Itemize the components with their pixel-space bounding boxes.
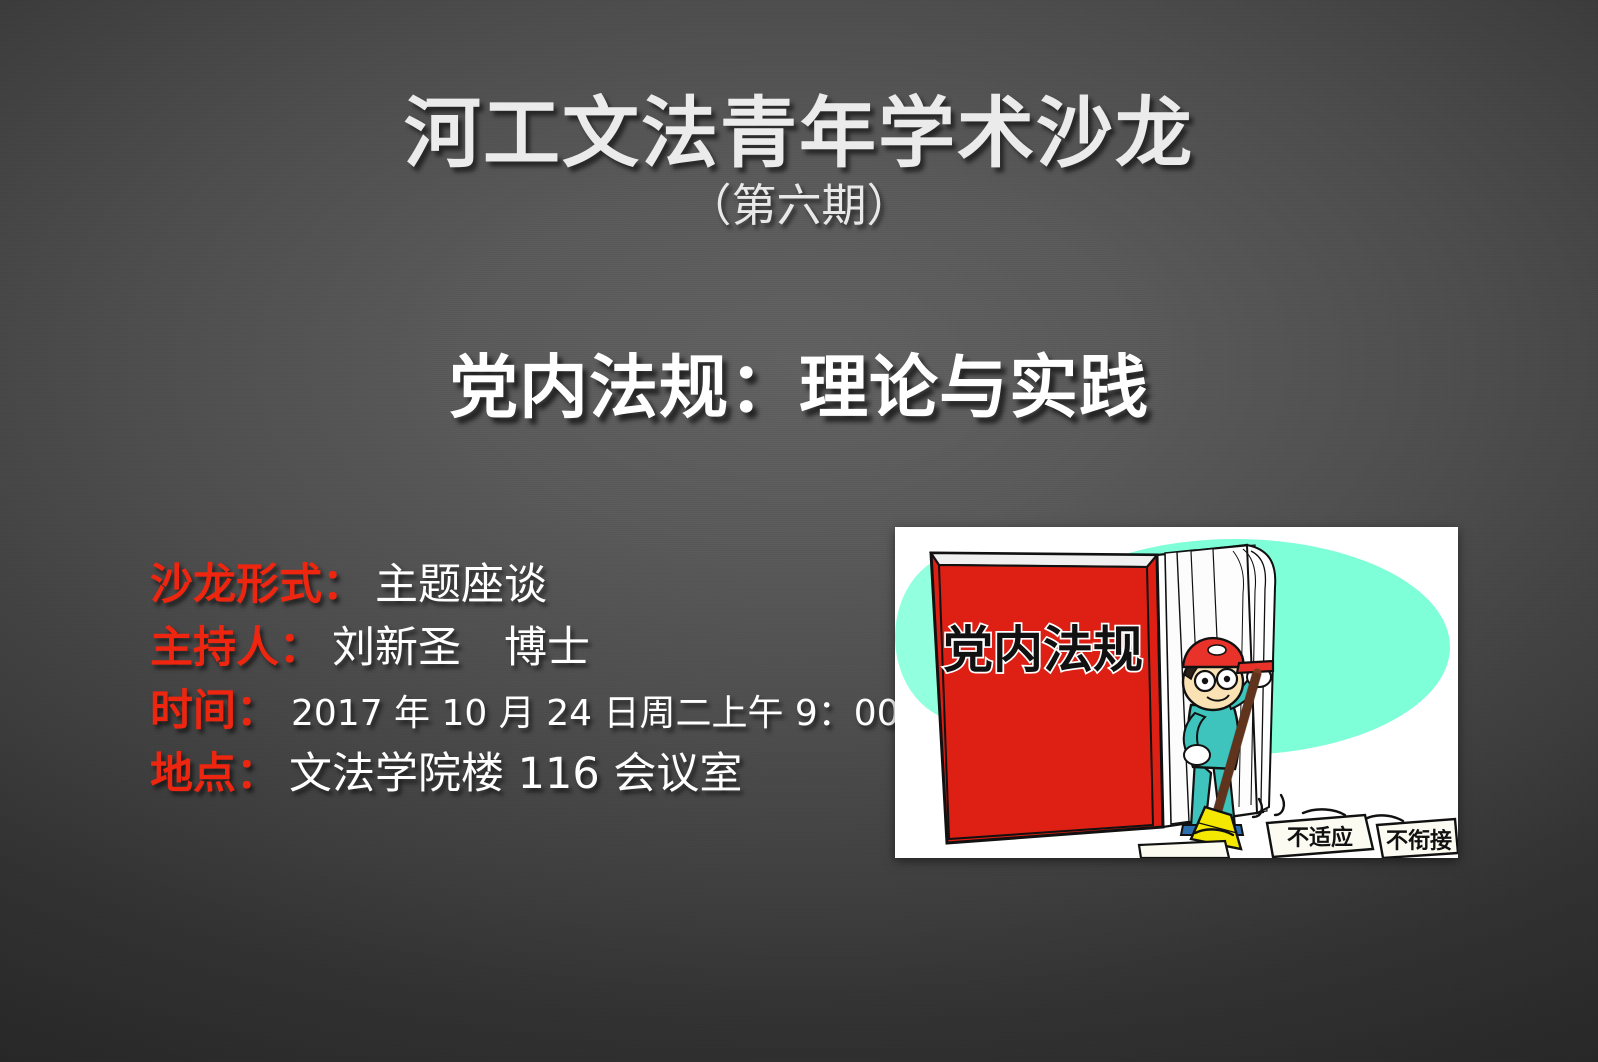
topic-headline: 党内法规：理论与实践 [0, 352, 1598, 424]
page-title: 河工文法青年学术沙龙 [0, 96, 1598, 173]
detail-row-host: 主持人：刘新圣 博士 [150, 621, 910, 676]
detail-row-time: 时间：2017 年 10 月 24 日周二上午 9：00 [150, 684, 910, 739]
detail-row-location: 地点：文法学院楼 116 会议室 [150, 747, 910, 802]
detail-value-time: 2017 年 10 月 24 日周二上午 9：00 [279, 693, 900, 734]
detail-row-format: 沙龙形式：主题座谈 [150, 558, 910, 613]
detail-label-location: 地点： [150, 749, 279, 799]
paper-slip: 不适应 [1267, 815, 1373, 857]
page-subtitle: （第六期） [0, 183, 1598, 228]
detail-label-host: 主持人： [150, 623, 322, 673]
paper-slip [1139, 841, 1229, 858]
paper-slip-label: 不适应 [1287, 825, 1353, 851]
paper-slip: 不衔接 [1377, 819, 1458, 858]
detail-value-host: 刘新圣 博士 [322, 623, 590, 673]
event-details-list: 沙龙形式：主题座谈 主持人：刘新圣 博士 时间：2017 年 10 月 24 日… [150, 558, 910, 810]
detail-value-format: 主题座谈 [365, 560, 547, 610]
presentation-slide: 河工文法青年学术沙龙 （第六期） 党内法规：理论与实践 沙龙形式：主题座谈 主持… [0, 0, 1598, 1062]
detail-value-location: 文法学院楼 116 会议室 [279, 749, 742, 799]
detail-label-time: 时间： [150, 686, 279, 736]
party-regulations-cartoon-icon: 党内法规 [895, 527, 1458, 858]
title-block: 河工文法青年学术沙龙 （第六期） [0, 96, 1598, 228]
illustration-image: 党内法规 [895, 527, 1458, 858]
red-book-cover-icon: 党内法规 [931, 553, 1163, 843]
paper-slip-label: 不衔接 [1386, 829, 1452, 854]
book-cover-title: 党内法规 [943, 621, 1143, 679]
detail-label-format: 沙龙形式： [150, 560, 365, 610]
